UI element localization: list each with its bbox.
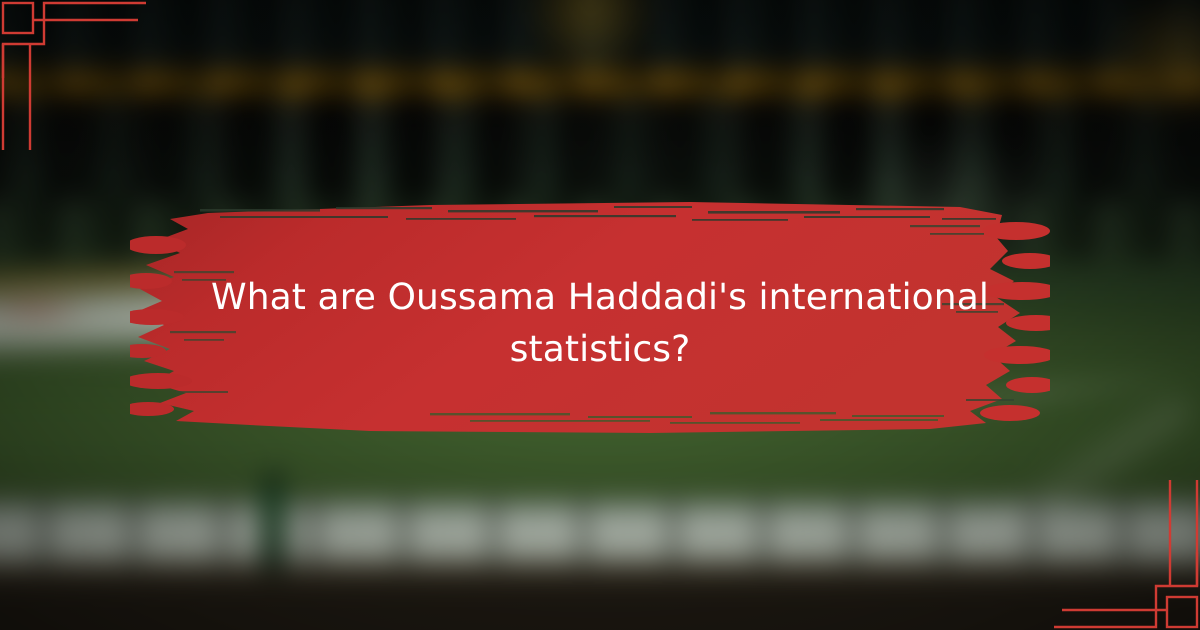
question-card: What are Oussama Haddadi's international… xyxy=(0,0,1200,630)
question-headline: What are Oussama Haddadi's international… xyxy=(205,272,995,376)
